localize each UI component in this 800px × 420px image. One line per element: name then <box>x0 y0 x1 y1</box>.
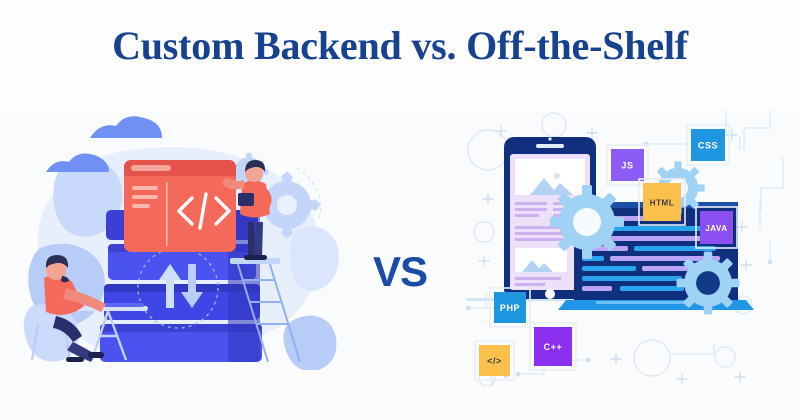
badge-label: C++ <box>544 342 563 352</box>
off-the-shelf-illustration: CSSJSHTMLJAVAPHPC++</> <box>440 110 800 386</box>
badge-label: CSS <box>698 140 718 150</box>
page-title: Custom Backend vs. Off-the-Shelf <box>0 22 800 69</box>
tech-badge-[interactable]: </> <box>475 341 514 380</box>
code-editor-window <box>124 160 236 252</box>
badge-label: </> <box>487 356 502 366</box>
tech-badge-php[interactable]: PHP <box>490 288 530 327</box>
badge-label: JS <box>621 160 633 170</box>
tech-badge-html[interactable]: HTML <box>639 179 685 225</box>
versus-separator: VS <box>364 248 436 296</box>
badge-label: JAVA <box>705 224 728 233</box>
tech-badge-c++[interactable]: C++ <box>530 323 576 370</box>
poster-canvas: Custom Backend vs. Off-the-Shelf <box>0 0 800 420</box>
badge-label: PHP <box>500 303 520 313</box>
tech-badge-css[interactable]: CSS <box>687 125 729 165</box>
tech-badge-java[interactable]: JAVA <box>696 207 737 248</box>
custom-backend-illustration <box>0 110 360 370</box>
badge-label: HTML <box>650 198 675 207</box>
